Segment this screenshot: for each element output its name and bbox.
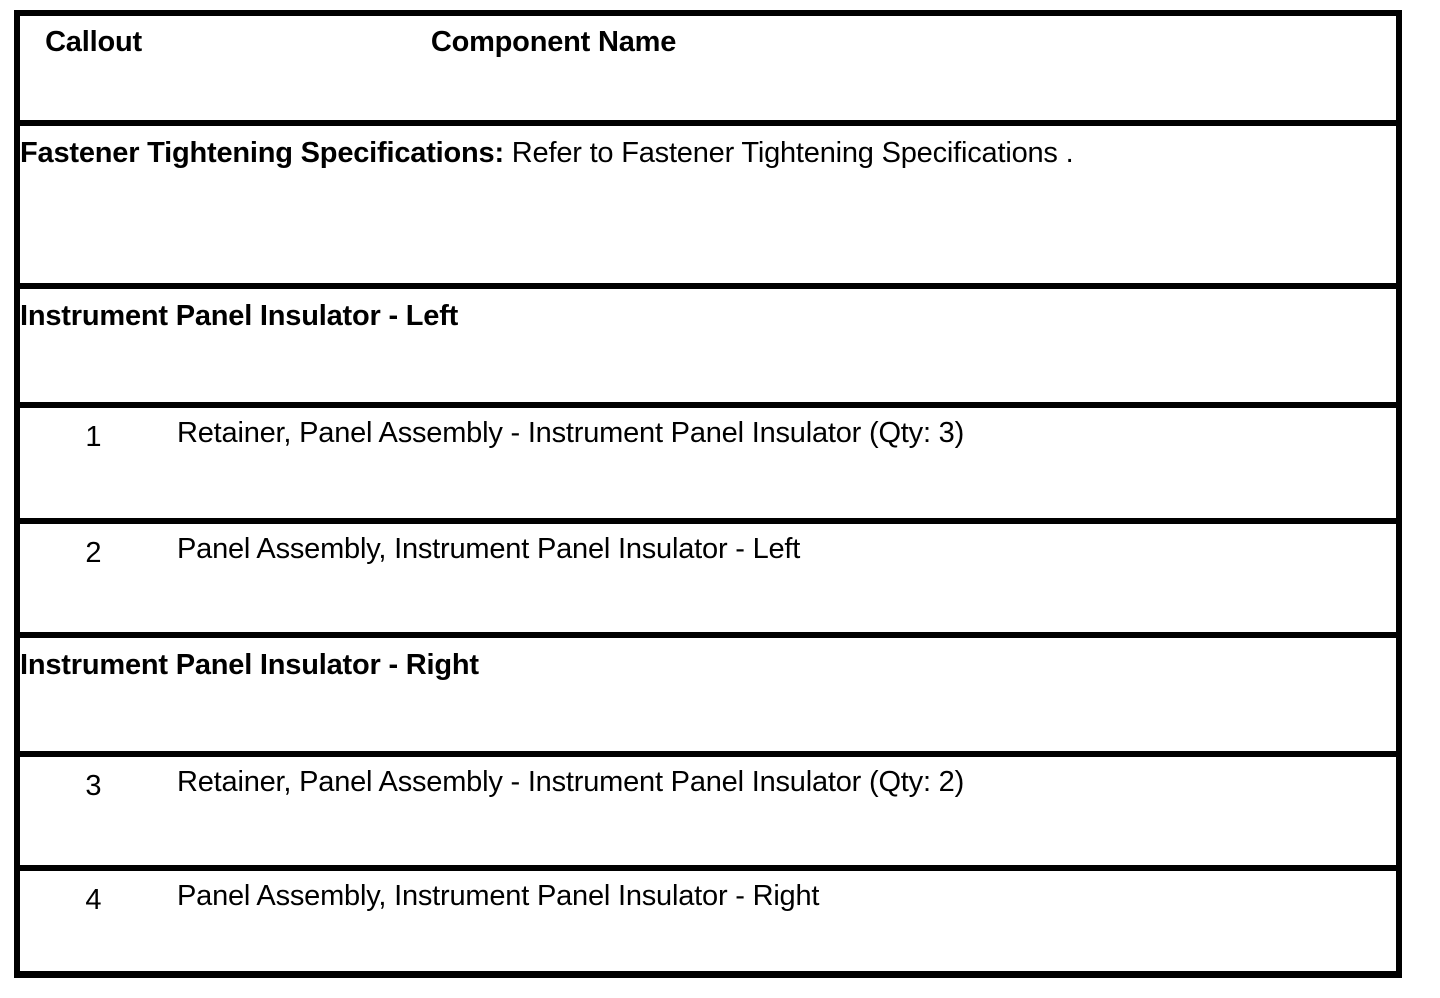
- callout-number: 3: [20, 757, 167, 808]
- table-row: 4 Panel Assembly, Instrument Panel Insul…: [17, 868, 1399, 975]
- table-row: 1 Retainer, Panel Assembly - Instrument …: [17, 405, 1399, 521]
- callout-number: 4: [20, 871, 167, 922]
- component-name-column-header-label: Component Name: [167, 16, 1396, 62]
- table-row: 2 Panel Assembly, Instrument Panel Insul…: [17, 521, 1399, 635]
- component-name-text: Panel Assembly, Instrument Panel Insulat…: [167, 871, 1396, 922]
- component-name-text: Retainer, Panel Assembly - Instrument Pa…: [167, 408, 1396, 459]
- section-title-left: Instrument Panel Insulator - Left: [20, 289, 1396, 338]
- callout-number: 2: [20, 524, 167, 575]
- fastener-spec-body: Refer to Fastener Tightening Specificati…: [504, 137, 1074, 169]
- component-name-text: Retainer, Panel Assembly - Instrument Pa…: [167, 757, 1396, 808]
- section-header-cell-right: Instrument Panel Insulator - Right: [17, 635, 1399, 754]
- section-header-row-right: Instrument Panel Insulator - Right: [17, 635, 1399, 754]
- component-name-text: Panel Assembly, Instrument Panel Insulat…: [167, 524, 1396, 575]
- callout-column-header-label: Callout: [20, 16, 167, 62]
- callout-cell: 1: [17, 405, 167, 521]
- callout-number: 1: [20, 408, 167, 459]
- section-title-right: Instrument Panel Insulator - Right: [20, 638, 1396, 687]
- callout-cell: 3: [17, 754, 167, 868]
- section-header-row-left: Instrument Panel Insulator - Left: [17, 286, 1399, 405]
- component-name-cell: Retainer, Panel Assembly - Instrument Pa…: [167, 754, 1399, 868]
- component-name-cell: Retainer, Panel Assembly - Instrument Pa…: [167, 405, 1399, 521]
- fastener-spec-label: Fastener Tightening Specifications:: [20, 137, 504, 169]
- section-header-cell-left: Instrument Panel Insulator - Left: [17, 286, 1399, 405]
- component-name-cell: Panel Assembly, Instrument Panel Insulat…: [167, 868, 1399, 975]
- document-page: Callout Component Name Fastener Tighteni…: [0, 0, 1440, 998]
- component-name-cell: Panel Assembly, Instrument Panel Insulat…: [167, 521, 1399, 635]
- header-cell-callout: Callout: [17, 13, 167, 123]
- callout-cell: 2: [17, 521, 167, 635]
- table-header-row: Callout Component Name: [17, 13, 1399, 123]
- fastener-spec-text: Fastener Tightening Specifications: Refe…: [20, 126, 1200, 175]
- table-row: 3 Retainer, Panel Assembly - Instrument …: [17, 754, 1399, 868]
- fastener-spec-cell: Fastener Tightening Specifications: Refe…: [17, 123, 1399, 286]
- fastener-spec-row: Fastener Tightening Specifications: Refe…: [17, 123, 1399, 286]
- callout-cell: 4: [17, 868, 167, 975]
- header-cell-component-name: Component Name: [167, 13, 1399, 123]
- component-callout-table: Callout Component Name Fastener Tighteni…: [14, 10, 1402, 978]
